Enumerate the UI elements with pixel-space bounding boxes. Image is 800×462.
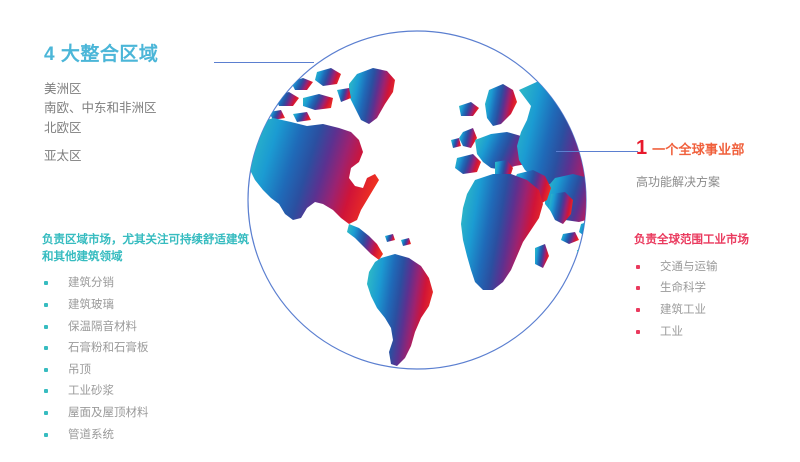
list-item-label: 工业 (660, 326, 683, 338)
region-item-asia-pacific: 亚太区 (44, 147, 244, 166)
global-division-number: 1 (636, 138, 647, 158)
square-bullet-icon (636, 286, 640, 290)
list-item-label: 保温隔音材料 (68, 321, 137, 333)
square-bullet-icon (636, 330, 640, 334)
square-bullet-icon (636, 308, 640, 312)
regions-block: 4 大整合区域 美洲区 南欧、中东和非洲区 北欧区 亚太区 (44, 44, 244, 166)
square-bullet-icon (44, 303, 48, 307)
list-item: 生命科学 (634, 278, 799, 300)
list-item: 吊顶 (42, 360, 257, 382)
region-item-northern-europe: 北欧区 (44, 119, 244, 138)
list-item: 保温隔音材料 (42, 317, 257, 339)
list-item: 石膏粉和石膏板 (42, 338, 257, 360)
global-division-block: 1 一个全球事业部 高功能解决方案 (636, 138, 798, 190)
list-item-label: 生命科学 (660, 282, 706, 294)
industrial-markets-list: 交通与运输 生命科学 建筑工业 工业 (634, 257, 799, 343)
global-division-title-row: 1 一个全球事业部 (636, 138, 798, 158)
list-item: 交通与运输 (634, 257, 799, 279)
industrial-markets-heading: 负责全球范围工业市场 (634, 232, 799, 249)
global-division-subtitle: 高功能解决方案 (636, 173, 798, 190)
list-item-label: 吊顶 (68, 364, 91, 376)
list-item: 工业砂浆 (42, 381, 257, 403)
world-globe (245, 28, 589, 372)
globe-svg (245, 28, 589, 372)
square-bullet-icon (44, 281, 48, 285)
list-item-label: 建筑玻璃 (68, 299, 114, 311)
square-bullet-icon (636, 265, 640, 269)
square-bullet-icon (44, 411, 48, 415)
slide-canvas: 4 大整合区域 美洲区 南欧、中东和非洲区 北欧区 亚太区 负责区域市场，尤其关… (0, 0, 800, 462)
list-item-label: 建筑分销 (68, 277, 114, 289)
region-item-americas: 美洲区 (44, 80, 244, 99)
list-item: 工业 (634, 322, 799, 344)
list-item-label: 管道系统 (68, 429, 114, 441)
square-bullet-icon (44, 433, 48, 437)
right-connector-line (556, 151, 638, 152)
list-item-label: 屋面及屋顶材料 (68, 407, 149, 419)
list-item: 建筑玻璃 (42, 295, 257, 317)
list-item: 屋面及屋顶材料 (42, 403, 257, 425)
square-bullet-icon (44, 346, 48, 350)
list-item: 管道系统 (42, 425, 257, 447)
regions-title: 4 大整合区域 (44, 44, 244, 67)
list-item-label: 工业砂浆 (68, 385, 114, 397)
regional-markets-heading: 负责区域市场，尤其关注可持续舒适建筑和其他建筑领域 (42, 232, 257, 265)
regional-markets-list: 建筑分销 建筑玻璃 保温隔音材料 石膏粉和石膏板 吊顶 工业砂浆 屋面及屋顶材料… (42, 273, 257, 446)
region-item-semea: 南欧、中东和非洲区 (44, 99, 244, 118)
list-item-label: 石膏粉和石膏板 (68, 342, 149, 354)
list-item: 建筑分销 (42, 273, 257, 295)
global-division-title: 一个全球事业部 (652, 143, 744, 156)
regional-markets-block: 负责区域市场，尤其关注可持续舒适建筑和其他建筑领域 建筑分销 建筑玻璃 保温隔音… (42, 232, 257, 446)
list-item-label: 建筑工业 (660, 304, 706, 316)
square-bullet-icon (44, 325, 48, 329)
square-bullet-icon (44, 389, 48, 393)
industrial-markets-block: 负责全球范围工业市场 交通与运输 生命科学 建筑工业 工业 (634, 232, 799, 343)
list-item-label: 交通与运输 (660, 261, 718, 273)
square-bullet-icon (44, 368, 48, 372)
list-item: 建筑工业 (634, 300, 799, 322)
